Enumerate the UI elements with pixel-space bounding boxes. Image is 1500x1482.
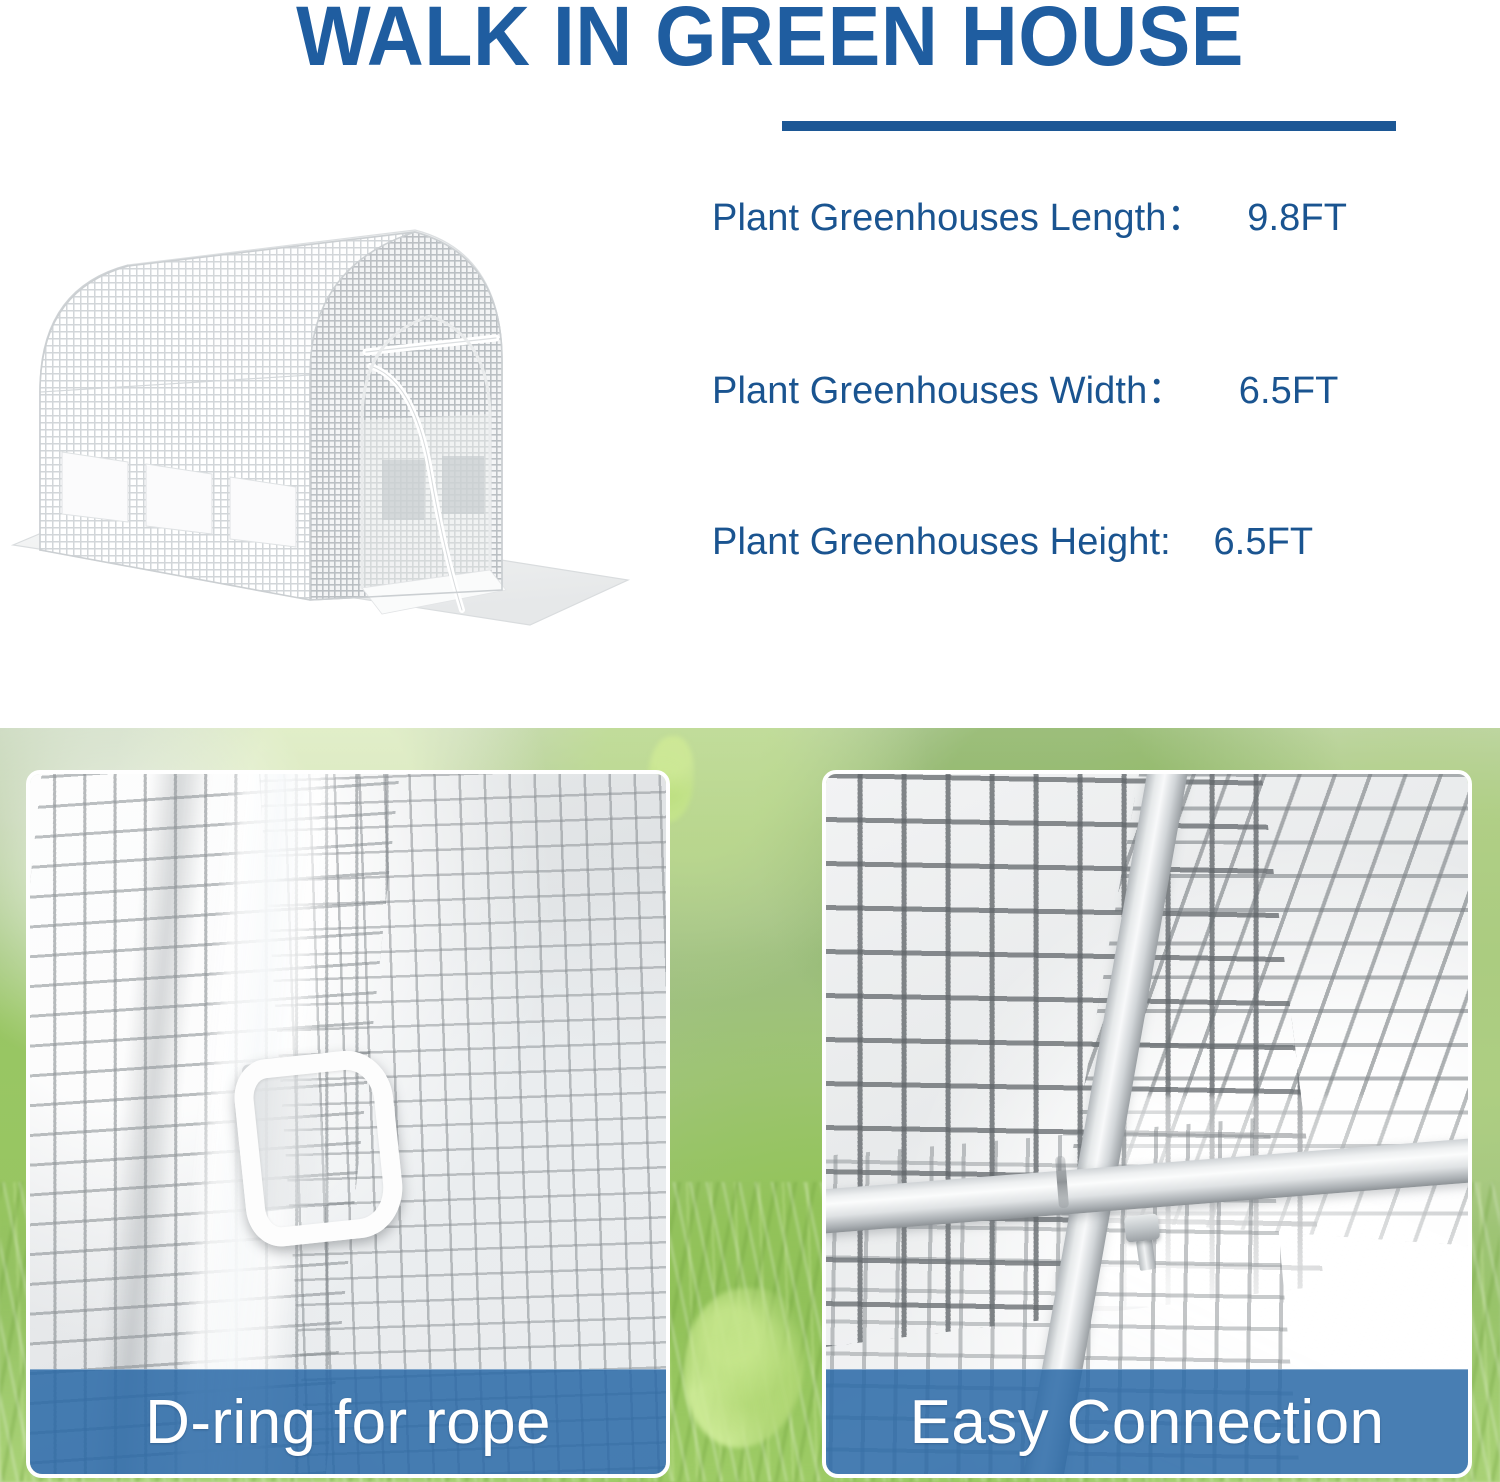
bolt-icon — [1123, 1213, 1160, 1242]
header-section: WALK IN GREEN HOUSE — [0, 0, 1500, 728]
spec-label-height: Plant Greenhouses Height: — [712, 521, 1171, 563]
spec-value-length: 9.8FT — [1247, 197, 1347, 239]
caption-label-easy-connection: Easy Connection — [910, 1387, 1385, 1458]
feature-photos-section: D-ring for rope Easy Connection — [0, 728, 1500, 1482]
feature-card-d-ring: D-ring for rope — [26, 770, 670, 1478]
caption-bar-d-ring: D-ring for rope — [30, 1369, 666, 1474]
feature-card-easy-connection: Easy Connection — [822, 770, 1472, 1478]
spec-value-width: 6.5FT — [1239, 370, 1339, 412]
spec-value-height: 6.5FT — [1213, 521, 1313, 563]
specifications-list: Plant Greenhouses Length： 9.8FT Plant Gr… — [712, 176, 1472, 596]
product-illustration — [10, 170, 670, 670]
caption-label-d-ring: D-ring for rope — [145, 1387, 551, 1458]
page-title: WALK IN GREEN HOUSE — [168, 0, 1371, 78]
spec-row-width: Plant Greenhouses Width： 6.5FT — [712, 359, 1472, 405]
spec-row-length: Plant Greenhouses Length： 9.8FT — [712, 186, 1472, 232]
title-divider — [782, 121, 1396, 131]
caption-bar-easy-connection: Easy Connection — [826, 1369, 1468, 1474]
d-ring-icon — [230, 1046, 407, 1249]
spec-label-length: Plant Greenhouses Length： — [712, 197, 1205, 239]
spec-label-width: Plant Greenhouses Width： — [712, 370, 1185, 412]
spec-row-height: Plant Greenhouses Height: 6.5FT — [712, 521, 1472, 567]
